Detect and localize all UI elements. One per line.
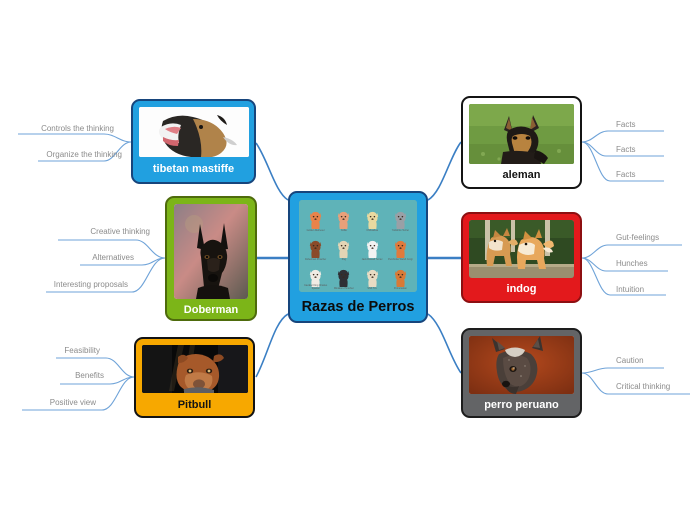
dog-illustration: Yorkshire Terrier xyxy=(387,203,414,231)
dog-illustration: Pembroke Welsh Corgi xyxy=(387,232,414,260)
leaf-label-controls-the-thinking[interactable]: Controls the thinking xyxy=(6,125,114,133)
leaf-label-positive-view[interactable]: Positive view xyxy=(6,399,96,407)
dog-illustration: Golden Retriever xyxy=(302,203,329,231)
mindmap-canvas: Golden RetrieverCollieChihuahuaYorkshire… xyxy=(0,0,696,520)
doberman-label: Doberman xyxy=(184,305,238,316)
perro-peruano-image xyxy=(469,336,574,394)
dog-illustration-caption: Miniature Pinscher xyxy=(330,287,357,290)
dog-breeds-grid-image: Golden RetrieverCollieChihuahuaYorkshire… xyxy=(299,200,417,292)
dog-illustration: Pug xyxy=(330,232,357,260)
leaf-label-facts-2[interactable]: Facts xyxy=(616,146,676,154)
tibetan-mastiffe-label: tibetan mastiffe xyxy=(153,164,234,175)
branch-node-perro-peruano[interactable]: perro peruano xyxy=(461,328,582,418)
pitbull-label: Pitbull xyxy=(178,400,212,411)
dog-illustration: Collie xyxy=(330,203,357,231)
connector-leaf-controls xyxy=(18,134,131,142)
leaf-label-intuition[interactable]: Intuition xyxy=(616,286,686,294)
dog-illustration-caption: Shih Tzu xyxy=(359,287,386,290)
tibetan-mastiffe-image xyxy=(139,107,249,157)
leaf-label-benefits[interactable]: Benefits xyxy=(20,372,104,380)
branch-node-aleman[interactable]: aleman xyxy=(461,96,582,189)
leaf-label-creative-thinking[interactable]: Creative thinking xyxy=(50,228,150,236)
branch-node-doberman[interactable]: Doberman xyxy=(165,196,257,321)
leaf-label-critical-thinking[interactable]: Critical thinking xyxy=(616,383,696,391)
connector-center-pitbull xyxy=(256,314,288,377)
indog-label: indog xyxy=(507,284,537,295)
doberman-image xyxy=(174,204,248,299)
leaf-label-facts-3[interactable]: Facts xyxy=(616,171,676,179)
perro-peruano-label: perro peruano xyxy=(484,400,559,411)
aleman-image xyxy=(469,104,574,164)
leaf-label-interesting-proposals[interactable]: Interesting proposals xyxy=(30,281,128,289)
connector-center-tibetan-mastiffe xyxy=(256,143,288,200)
dog-illustration: Pomeranian xyxy=(387,261,414,289)
aleman-label: aleman xyxy=(503,170,541,181)
dog-illustration: Chihuahua xyxy=(359,203,386,231)
dog-illustration-caption: Cavalier King Charles Spaniel xyxy=(302,284,329,290)
leaf-label-organize-the-thinking[interactable]: Organize the thinking xyxy=(6,151,122,159)
connector-center-aleman xyxy=(428,142,461,200)
dog-illustration: Shih Tzu xyxy=(359,261,386,289)
connector-leaf-gut-feelings xyxy=(582,245,682,258)
dog-illustration: Miniature Pinscher xyxy=(330,261,357,289)
leaf-label-alternatives[interactable]: Alternatives xyxy=(60,254,134,262)
branch-node-tibetan-mastiffe[interactable]: tibetan mastiffe xyxy=(131,99,256,184)
leaf-label-caution[interactable]: Caution xyxy=(616,357,686,365)
dog-illustration: Jack Russell Terrier xyxy=(359,232,386,260)
connector-leaf-caution xyxy=(582,368,664,373)
branch-node-pitbull[interactable]: Pitbull xyxy=(134,337,255,418)
branch-node-indog[interactable]: indog xyxy=(461,212,582,303)
leaf-label-facts-1[interactable]: Facts xyxy=(616,121,676,129)
leaf-label-gut-feelings[interactable]: Gut-feelings xyxy=(616,234,692,242)
central-node-razas-de-perros[interactable]: Golden RetrieverCollieChihuahuaYorkshire… xyxy=(288,191,428,323)
leaf-label-hunches[interactable]: Hunches xyxy=(616,260,686,268)
pitbull-image xyxy=(142,345,248,393)
connector-center-perro-peruano xyxy=(428,314,461,373)
leaf-label-feasibility[interactable]: Feasibility xyxy=(20,347,100,355)
dog-illustration: Cavalier King Charles Spaniel xyxy=(302,261,329,289)
central-node-label: Razas de Perros xyxy=(302,300,415,315)
indog-image xyxy=(469,220,574,278)
connector-leaf-facts-1 xyxy=(582,131,664,142)
dog-illustration: Doberman Pinscher xyxy=(302,232,329,260)
dog-illustration-caption: Pomeranian xyxy=(387,287,414,290)
